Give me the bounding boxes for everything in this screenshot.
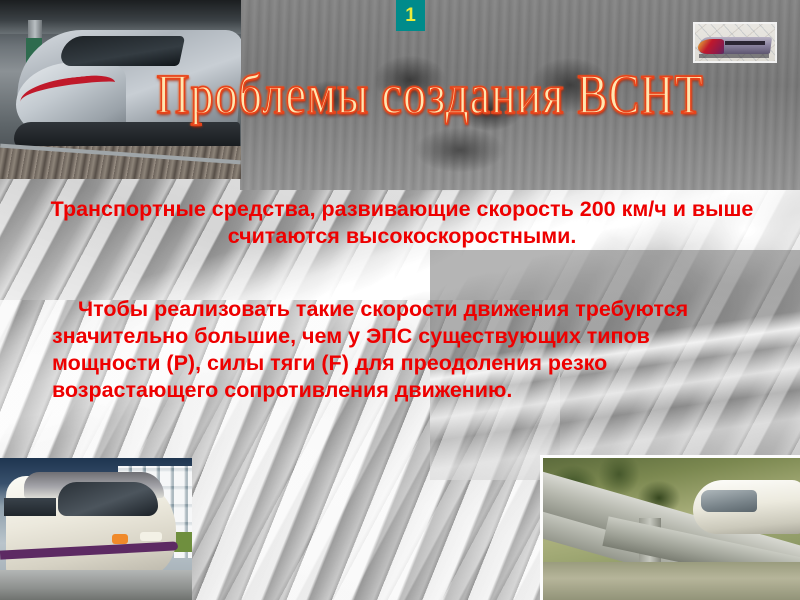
ave-velaro-train-photo [0,458,192,600]
maglev-guideway-photo [540,455,800,600]
velaro-headlamp-white [140,532,162,541]
page-title: Проблемы создания ВСНТ [150,62,710,127]
velaro-platform [0,570,192,600]
presentation-slide: 1 Проблемы создания ВСНТ Транспортные ср… [0,0,800,600]
paragraph-definition: Транспортные средства, развивающие скоро… [40,196,764,250]
velaro-side-windows [4,498,56,516]
paragraph-requirements: Чтобы реализовать такие скорости движени… [40,296,764,404]
track-ballast [0,146,241,179]
slide-number-badge: 1 [396,0,425,31]
pendolino-nose [698,39,724,54]
pendolino-train-map-photo [693,22,777,63]
velaro-headlamp-amber [112,534,128,544]
pendolino-shadow [699,54,769,58]
maglev-train-window [701,490,757,512]
maglev-ground [543,562,800,600]
velaro-windshield [58,482,158,516]
slide-body-text: Транспортные средства, развивающие скоро… [40,196,764,404]
pendolino-windows [725,41,765,45]
